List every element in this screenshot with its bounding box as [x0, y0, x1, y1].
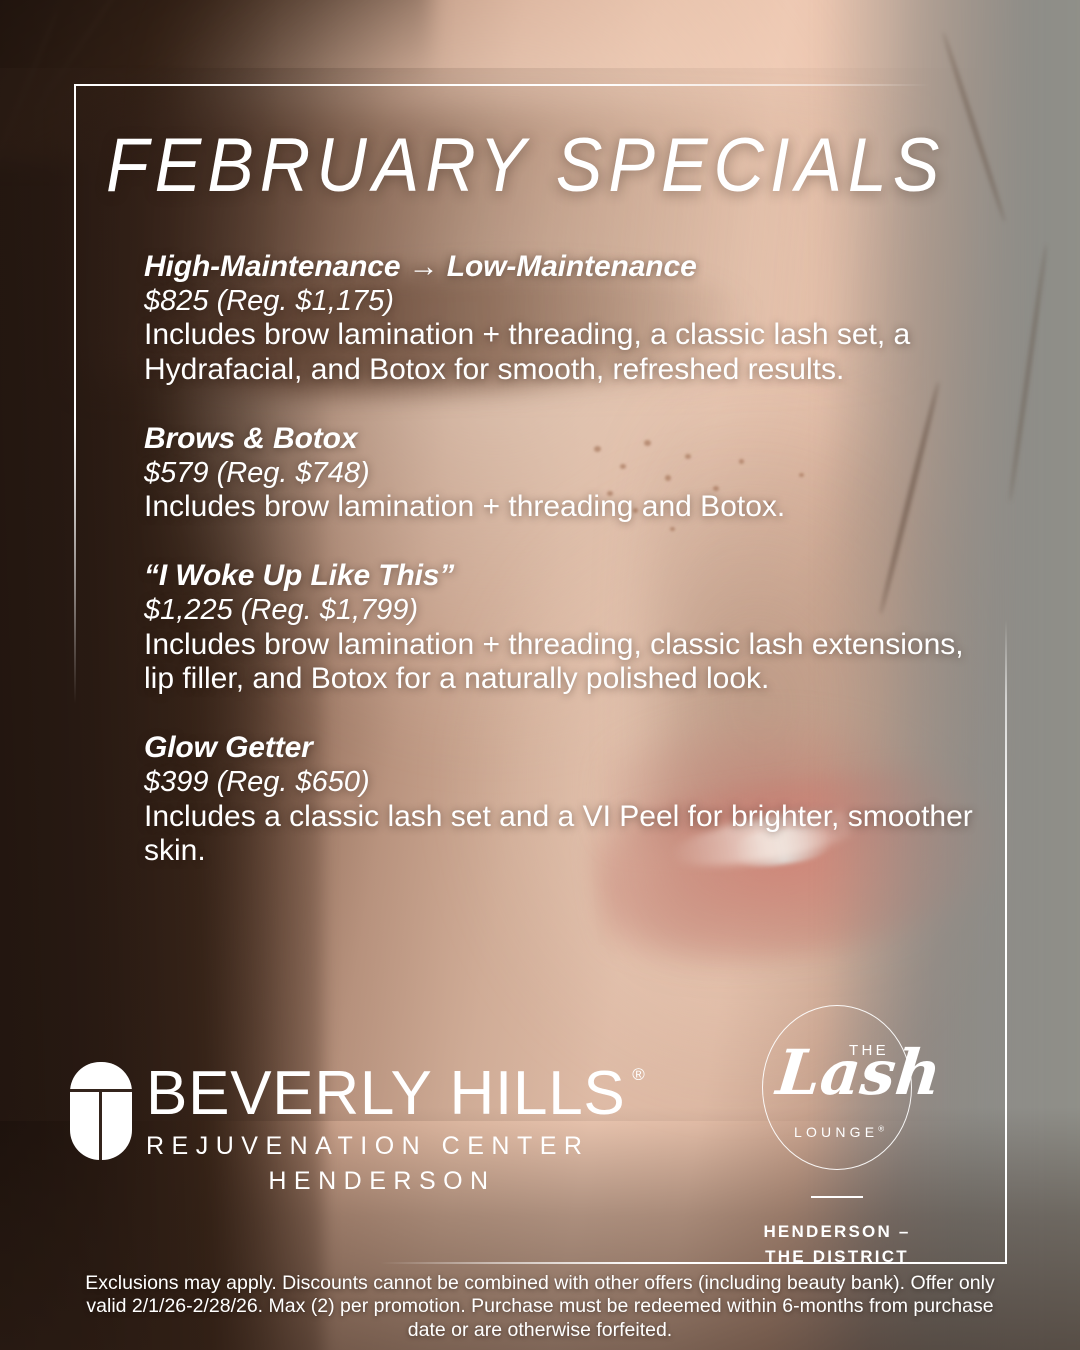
page-title: FEBRUARY SPECIALS: [106, 128, 916, 204]
offer-price: $579 (Reg. $748): [144, 456, 974, 491]
lash-lounge-script: Lash: [774, 1042, 905, 1104]
promo-graphic: FEBRUARY SPECIALS High-Maintenance → Low…: [0, 0, 1080, 1350]
beverly-hills-location: HENDERSON: [146, 1166, 626, 1196]
fine-print-disclaimer: Exclusions may apply. Discounts cannot b…: [74, 1272, 1006, 1342]
offer-description: Includes a classic lash set and a VI Pee…: [144, 800, 974, 870]
beverly-hills-logo: BEVERLY HILLS® REJUVENATION CENTER HENDE…: [70, 1062, 626, 1196]
lash-lounge-circle-badge: THE Lash LOUNGE®: [762, 1005, 912, 1170]
offer-name: High-Maintenance → Low-Maintenance: [144, 250, 974, 284]
registered-trademark-icon: ®: [632, 1066, 645, 1083]
offer-description: Includes brow lamination + threading, a …: [144, 318, 974, 388]
registered-trademark-icon: ®: [878, 1124, 884, 1133]
offer-price: $1,225 (Reg. $1,799): [144, 593, 974, 628]
offer-item: High-Maintenance → Low-Maintenance $825 …: [144, 250, 974, 388]
beverly-hills-wordmark: BEVERLY HILLS®: [146, 1064, 626, 1124]
lash-lounge-lounge: LOUNGE®: [763, 1124, 911, 1140]
lash-lounge-location-line1: HENDERSON –: [752, 1220, 922, 1245]
offer-price: $825 (Reg. $1,175): [144, 284, 974, 319]
offer-description: Includes brow lamination + threading and…: [144, 490, 974, 525]
offer-name: “I Woke Up Like This”: [144, 559, 974, 593]
beverly-hills-subtitle: REJUVENATION CENTER: [146, 1130, 626, 1163]
lash-lounge-location: HENDERSON – THE DISTRICT: [752, 1220, 922, 1269]
offer-description: Includes brow lamination + threading, cl…: [144, 628, 974, 698]
lash-lounge-location-line2: THE DISTRICT: [752, 1245, 922, 1270]
offer-name: Glow Getter: [144, 731, 974, 765]
lash-lounge-logo: THE Lash LOUNGE® HENDERSON – THE DISTRIC…: [752, 1005, 922, 1269]
offer-item: Glow Getter $399 (Reg. $650) Includes a …: [144, 731, 974, 869]
offer-price: $399 (Reg. $650): [144, 765, 974, 800]
offers-list: High-Maintenance → Low-Maintenance $825 …: [144, 250, 974, 869]
divider: [811, 1196, 863, 1198]
offer-item: “I Woke Up Like This” $1,225 (Reg. $1,79…: [144, 559, 974, 697]
brand-lockup-row: BEVERLY HILLS® REJUVENATION CENTER HENDE…: [0, 1000, 1080, 1250]
offer-item: Brows & Botox $579 (Reg. $748) Includes …: [144, 422, 974, 525]
offer-name: Brows & Botox: [144, 422, 974, 456]
beverly-hills-name: BEVERLY HILLS: [146, 1059, 626, 1128]
beverly-hills-mark-icon: [70, 1062, 132, 1160]
